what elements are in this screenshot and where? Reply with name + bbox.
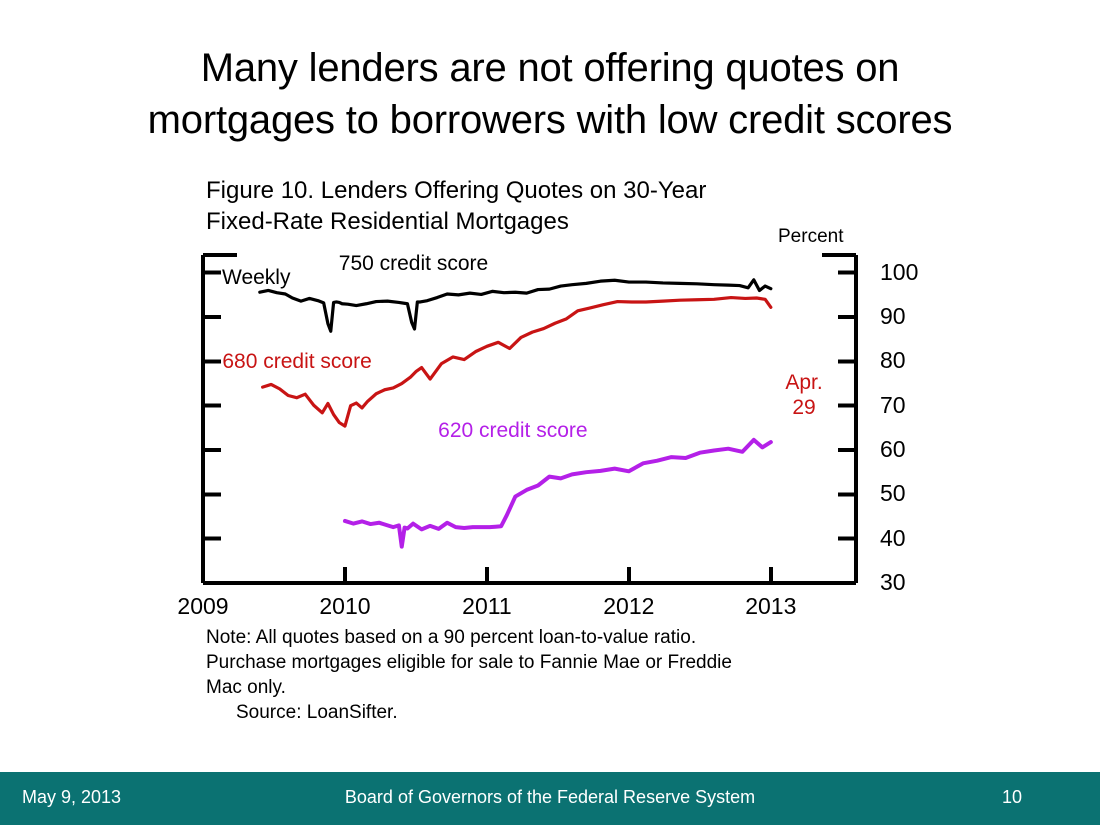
series-label-750: 750 credit score bbox=[339, 252, 488, 276]
y-tick-label: 60 bbox=[880, 436, 906, 463]
series-label-680: 680 credit score bbox=[222, 350, 371, 374]
x-tick-label: 2013 bbox=[726, 593, 816, 620]
x-tick-label: 2009 bbox=[158, 593, 248, 620]
footer-organization: Board of Governors of the Federal Reserv… bbox=[0, 787, 1100, 808]
figure-container: Figure 10. Lenders Offering Quotes on 30… bbox=[0, 170, 1100, 750]
y-tick-label: 30 bbox=[880, 569, 906, 596]
series-line-620 bbox=[345, 440, 771, 547]
figure-source: Source: LoanSifter. bbox=[206, 700, 886, 725]
y-tick-label: 80 bbox=[880, 347, 906, 374]
figure-note: Note: All quotes based on a 90 percent l… bbox=[206, 625, 886, 700]
y-tick-label: 40 bbox=[880, 525, 906, 552]
slide-title: Many lenders are not offering quotes on … bbox=[0, 42, 1100, 146]
annotation-apr-29: Apr. 29 bbox=[774, 370, 834, 420]
slide-footer: May 9, 2013 Board of Governors of the Fe… bbox=[0, 772, 1100, 825]
y-tick-label: 70 bbox=[880, 392, 906, 419]
y-tick-label: 50 bbox=[880, 480, 906, 507]
series-label-620: 620 credit score bbox=[438, 419, 587, 443]
x-tick-label: 2012 bbox=[584, 593, 674, 620]
footer-page-number: 10 bbox=[1002, 787, 1022, 808]
y-tick-label: 90 bbox=[880, 303, 906, 330]
y-tick-label: 100 bbox=[880, 259, 918, 286]
series-line-750 bbox=[260, 280, 771, 331]
x-tick-label: 2011 bbox=[442, 593, 532, 620]
x-tick-label: 2010 bbox=[300, 593, 390, 620]
chart-series bbox=[260, 280, 771, 547]
